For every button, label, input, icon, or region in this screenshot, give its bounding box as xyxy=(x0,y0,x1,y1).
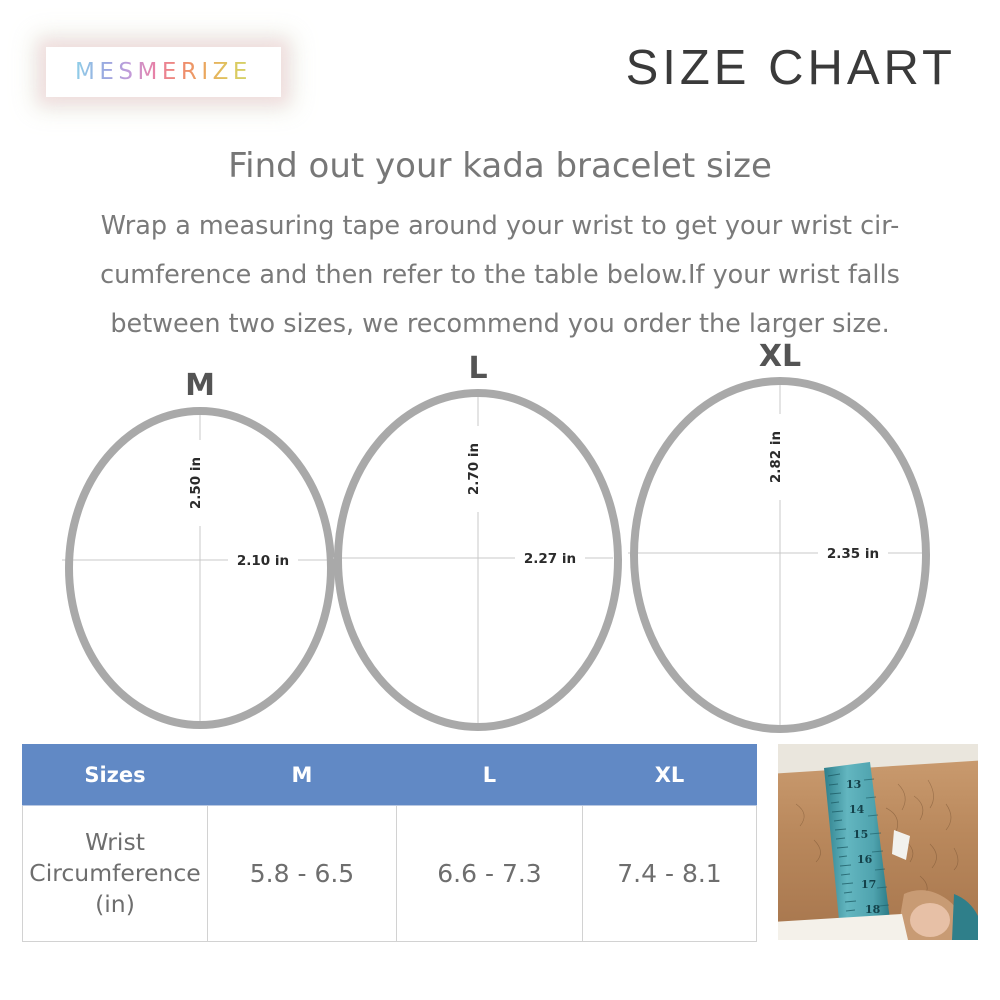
cell-wrist-circumference-l: 6.6 - 7.3 xyxy=(397,806,583,942)
page-title: SIZE CHART xyxy=(626,40,956,96)
cell-wrist-circumference-xl: 7.4 - 8.1 xyxy=(583,806,757,942)
oval-xl-size-letter: XL xyxy=(759,340,801,374)
size-table: Sizes M L XL Wrist Circumference (in) 5.… xyxy=(22,744,757,942)
brand-wordmark: MESMERIZE xyxy=(75,59,252,85)
oval-m-size-letter: M xyxy=(185,368,215,403)
row-label-line-1: Wrist xyxy=(85,828,145,856)
table-header-m: M xyxy=(208,745,397,806)
oval-group-m: M 2.50 in 2.10 in xyxy=(62,368,332,728)
row-label-line-3: (in) xyxy=(95,890,135,918)
tape-mark-15: 15 xyxy=(853,828,868,841)
oval-group-xl: XL 2.82 in 2.35 in xyxy=(628,340,928,732)
oval-l-width-label: 2.27 in xyxy=(524,551,576,567)
row-label-line-2: Circumference xyxy=(29,859,200,887)
oval-l-height-label: 2.70 in xyxy=(466,443,482,495)
table-header-xl: XL xyxy=(583,745,757,806)
brand-logo: MESMERIZE xyxy=(46,47,281,97)
tape-mark-13: 13 xyxy=(846,778,861,791)
oval-m-height-label: 2.50 in xyxy=(188,457,204,509)
oval-xl-width-label: 2.35 in xyxy=(827,546,879,562)
oval-group-l: L 2.70 in 2.27 in xyxy=(333,351,618,730)
tape-mark-14: 14 xyxy=(849,803,865,816)
tape-mark-17: 17 xyxy=(861,878,876,891)
headline: Find out your kada bracelet size xyxy=(0,146,1000,186)
table-row: Wrist Circumference (in) 5.8 - 6.5 6.6 -… xyxy=(23,806,757,942)
intro-line-1: Wrap a measuring tape around your wrist … xyxy=(48,202,952,251)
ovals-diagram: M 2.50 in 2.10 in L 2.70 in 2.27 in XL 2… xyxy=(0,340,1000,740)
tape-mark-18: 18 xyxy=(865,903,881,916)
intro-line-2: cumference and then refer to the table b… xyxy=(48,251,952,300)
wrist-measurement-photo: 13 14 15 16 17 18 xyxy=(778,744,978,940)
row-label-wrist-circumference: Wrist Circumference (in) xyxy=(23,806,208,942)
tape-mark-16: 16 xyxy=(857,853,873,866)
table-header-sizes: Sizes xyxy=(23,745,208,806)
table-header-row: Sizes M L XL xyxy=(23,745,757,806)
oval-m-width-label: 2.10 in xyxy=(237,553,289,569)
intro-paragraph: Wrap a measuring tape around your wrist … xyxy=(48,202,952,349)
oval-xl-height-label: 2.82 in xyxy=(768,431,784,483)
cell-wrist-circumference-m: 5.8 - 6.5 xyxy=(208,806,397,942)
photo-thumbnail xyxy=(910,903,950,937)
table-header-l: L xyxy=(397,745,583,806)
oval-l-size-letter: L xyxy=(468,351,487,386)
